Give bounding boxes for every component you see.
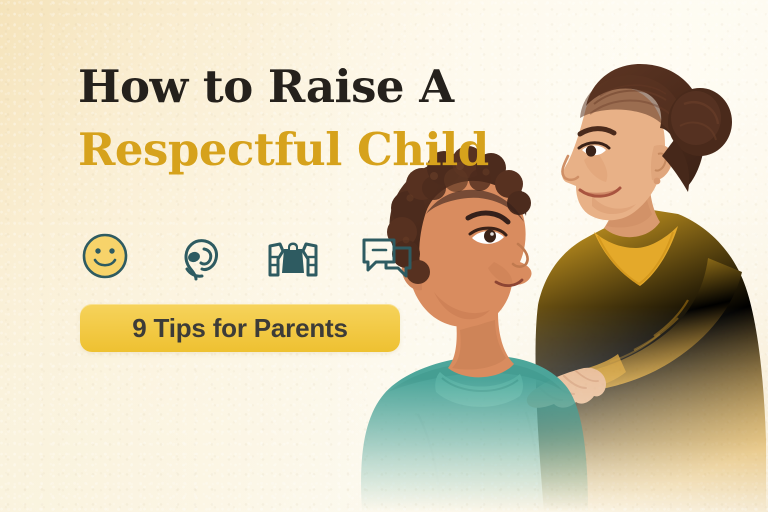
- smiley-face-icon: [78, 229, 132, 283]
- value-icon-row: [78, 229, 414, 283]
- speech-bubbles-icon: [360, 229, 414, 283]
- title-line-one: How to Raise A: [78, 64, 508, 109]
- headline-block: How to Raise A Respectful Child: [78, 64, 508, 172]
- title-line-two: Respectful Child: [78, 127, 508, 172]
- tips-cta-label: 9 Tips for Parents: [132, 313, 348, 344]
- helping-hands-icon: [266, 229, 320, 283]
- poster-canvas: How to Raise A Respectful Child: [0, 0, 768, 512]
- tips-cta-button[interactable]: 9 Tips for Parents: [80, 304, 400, 352]
- ear-listening-icon: [172, 229, 226, 283]
